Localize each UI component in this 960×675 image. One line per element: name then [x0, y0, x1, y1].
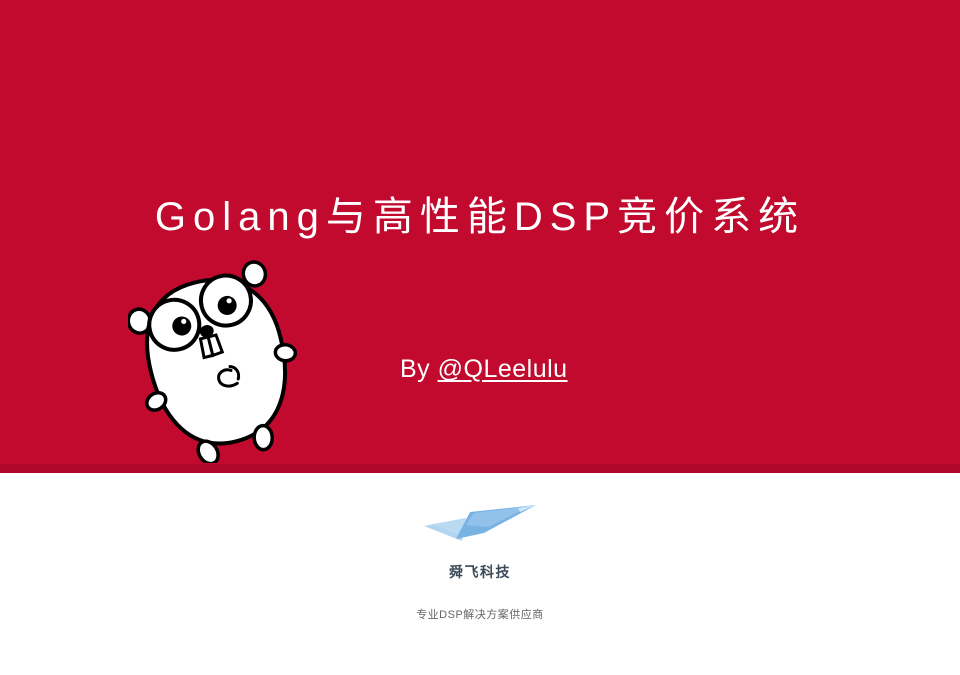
author-handle-link[interactable]: @QLeelulu — [438, 355, 568, 383]
byline: By @QLeelulu — [400, 353, 568, 385]
byline-prefix: By — [400, 355, 438, 383]
panel-bottom-edge — [0, 464, 960, 473]
footer-branding: 舜飞科技 专业DSP解决方案供应商 — [0, 500, 960, 623]
page-title: Golang与高性能DSP竞价系统 — [0, 190, 960, 244]
presentation-slide: Golang与高性能DSP竞价系统 By @QLeelulu — [0, 0, 960, 675]
company-tagline: 专业DSP解决方案供应商 — [0, 607, 960, 623]
go-gopher-mascot — [128, 258, 303, 463]
shunfei-swoosh-logo — [422, 500, 538, 552]
company-name: 舜飞科技 — [0, 562, 960, 582]
